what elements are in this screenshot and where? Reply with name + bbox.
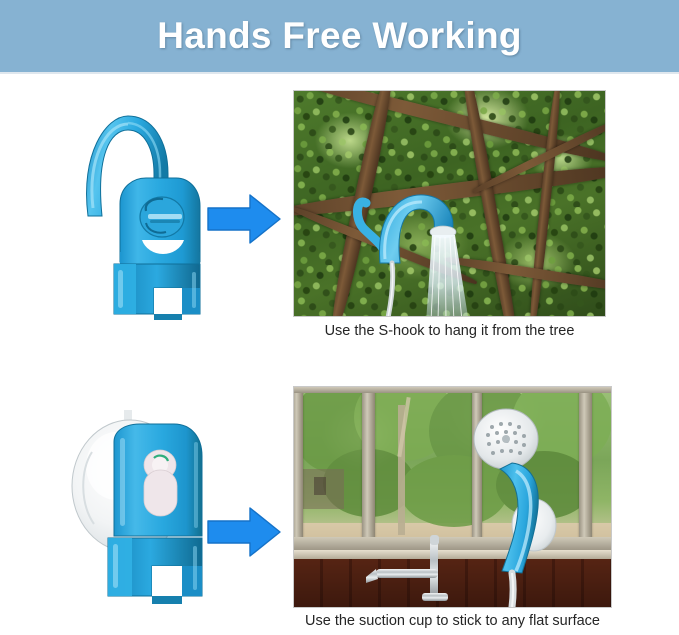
caption-suction-cup: Use the suction cup to stick to any flat… [293, 613, 612, 629]
caption-s-hook: Use the S-hook to hang it from the tree [293, 323, 606, 339]
page-title: Hands Free Working [157, 15, 522, 57]
shower-head-on-glass [472, 407, 582, 607]
s-hook-holder-icon [62, 82, 202, 322]
shower-on-window-glass-photo [293, 386, 612, 608]
window-rail-top [294, 387, 611, 393]
shower-hanging-from-tree-photo [293, 90, 606, 317]
header-banner: Hands Free Working [0, 0, 679, 72]
window-mullion-left [294, 387, 303, 557]
suction-cup-holder-icon [62, 408, 207, 613]
window-mullion-mid-left [362, 387, 375, 557]
right-arrow-icon [206, 505, 282, 564]
section-s-hook: Use the S-hook to hang it from the tree [0, 74, 679, 354]
right-arrow-icon [206, 192, 282, 251]
shower-head-on-branch [352, 177, 482, 316]
section-suction-cup: Use the suction cup to stick to any flat… [0, 368, 679, 635]
